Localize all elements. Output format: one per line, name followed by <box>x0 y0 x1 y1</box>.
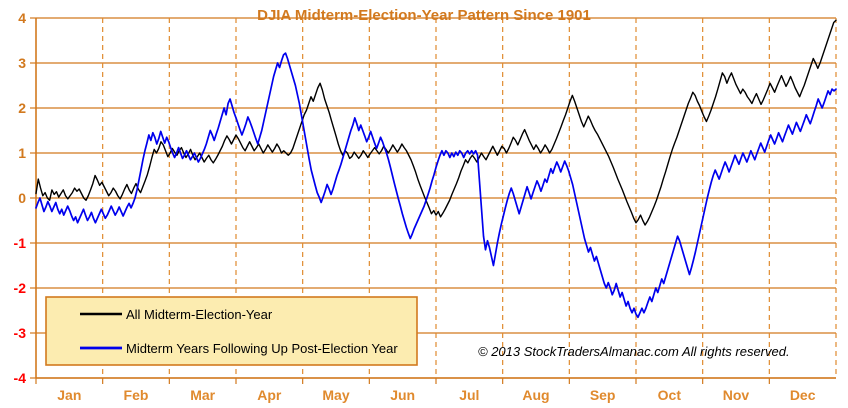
legend-label-midterm-following: Midterm Years Following Up Post-Election… <box>126 341 398 356</box>
y-tick-label-1: 1 <box>18 145 26 161</box>
y-tick-label-4: 4 <box>18 10 26 26</box>
legend: All Midterm-Election-Year Midterm Years … <box>46 297 417 365</box>
y-tick-label--3: -3 <box>14 325 27 341</box>
copyright-notice: © 2013 StockTradersAlmanac.com All right… <box>478 344 790 359</box>
x-tick-label-May: May <box>322 387 349 403</box>
chart-container: 43210-1-2-3-4 JanFebMarAprMayJunJulAugSe… <box>0 0 848 408</box>
x-tick-label-Sep: Sep <box>590 387 616 403</box>
y-tick-label--2: -2 <box>14 280 27 296</box>
x-tick-label-Nov: Nov <box>723 387 750 403</box>
x-tick-label-Feb: Feb <box>124 387 149 403</box>
legend-label-all-midterm: All Midterm-Election-Year <box>126 307 273 322</box>
y-tick-label--1: -1 <box>14 235 27 251</box>
chart-title: DJIA Midterm-Election-Year Pattern Since… <box>257 7 591 24</box>
x-tick-label-Mar: Mar <box>190 387 215 403</box>
x-tick-label-Jun: Jun <box>390 387 415 403</box>
y-tick-label--4: -4 <box>14 370 27 386</box>
x-tick-label-Oct: Oct <box>658 387 682 403</box>
y-tick-label-3: 3 <box>18 55 26 71</box>
x-tick-label-Jul: Jul <box>459 387 479 403</box>
x-tick-label-Jan: Jan <box>57 387 81 403</box>
djia-midterm-pattern-chart: 43210-1-2-3-4 JanFebMarAprMayJunJulAugSe… <box>0 0 848 408</box>
x-tick-label-Dec: Dec <box>790 387 816 403</box>
y-tick-label-0: 0 <box>18 190 26 206</box>
y-tick-label-2: 2 <box>18 100 26 116</box>
x-tick-label-Aug: Aug <box>522 387 549 403</box>
x-tick-label-Apr: Apr <box>257 387 282 403</box>
